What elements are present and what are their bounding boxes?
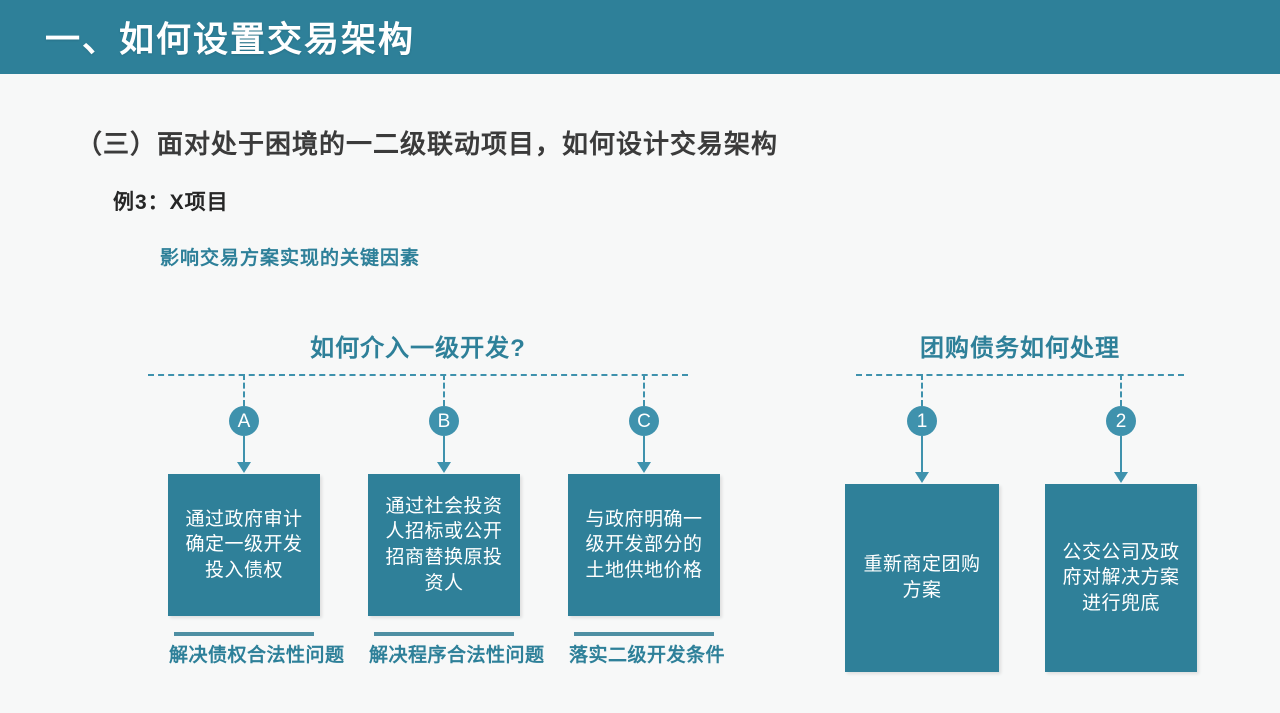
key-factors-heading: 影响交易方案实现的关键因素	[160, 243, 420, 270]
node-badge: 1	[907, 406, 937, 436]
section-subtitle: （三）面对处于困境的一二级联动项目，如何设计交易架构	[76, 124, 778, 161]
group-title: 如何介入一级开发?	[148, 328, 688, 363]
node-drop-line	[643, 374, 645, 406]
node-arrow-head	[915, 472, 929, 483]
node-arrow-head	[237, 462, 251, 473]
node-box-text: 公交公司及政府对解决方案进行兜底	[1057, 540, 1185, 617]
diagram-node-a: A 通过政府审计确定一级开发投入债权 解决债权合法性问题	[168, 374, 320, 674]
node-box-text: 通过社会投资人招标或公开招商替换原投资人	[380, 494, 508, 597]
node-badge: A	[229, 406, 259, 436]
node-caption: 落实二级开发条件	[569, 644, 719, 669]
node-box-text: 与政府明确一级开发部分的土地供地价格	[580, 507, 708, 584]
diagram-node-2: 2 公交公司及政府对解决方案进行兜底	[1045, 374, 1197, 674]
group-title: 团购债务如何处理	[856, 328, 1184, 363]
node-arrow-head	[637, 462, 651, 473]
node-badge: 2	[1106, 406, 1136, 436]
node-box-text: 通过政府审计确定一级开发投入债权	[180, 507, 308, 584]
node-caption-rule	[374, 632, 514, 636]
node-drop-line	[1120, 374, 1122, 406]
diagram-group-group-purchase-debt: 团购债务如何处理 1 重新商定团购方案 2 公交公司及政府对解决方案进行兜底	[856, 328, 1184, 668]
node-box: 公交公司及政府对解决方案进行兜底	[1045, 484, 1197, 672]
node-caption: 解决程序合法性问题	[369, 644, 519, 669]
node-caption-rule	[574, 632, 714, 636]
node-arrow-head	[1114, 472, 1128, 483]
node-drop-line	[921, 374, 923, 406]
node-box: 通过政府审计确定一级开发投入债权	[168, 474, 320, 616]
diagram-node-b: B 通过社会投资人招标或公开招商替换原投资人 解决程序合法性问题	[368, 374, 520, 674]
node-drop-line	[243, 374, 245, 406]
diagram-group-primary-development: 如何介入一级开发? A 通过政府审计确定一级开发投入债权 解决债权合法性问题 B…	[148, 328, 688, 668]
node-box-text: 重新商定团购方案	[857, 552, 987, 603]
node-box: 与政府明确一级开发部分的土地供地价格	[568, 474, 720, 616]
node-box: 重新商定团购方案	[845, 484, 999, 672]
node-badge: B	[429, 406, 459, 436]
node-box: 通过社会投资人招标或公开招商替换原投资人	[368, 474, 520, 616]
node-caption: 解决债权合法性问题	[169, 644, 319, 669]
example-label: 例3：X项目	[113, 186, 229, 216]
node-badge: C	[629, 406, 659, 436]
node-drop-line	[443, 374, 445, 406]
diagram-node-1: 1 重新商定团购方案	[845, 374, 999, 674]
page-title: 一、如何设置交易架构	[45, 12, 415, 63]
node-arrow-head	[437, 462, 451, 473]
slide-header-band: 一、如何设置交易架构	[0, 0, 1280, 74]
node-caption-rule	[174, 632, 314, 636]
diagram-node-c: C 与政府明确一级开发部分的土地供地价格 落实二级开发条件	[568, 374, 720, 674]
